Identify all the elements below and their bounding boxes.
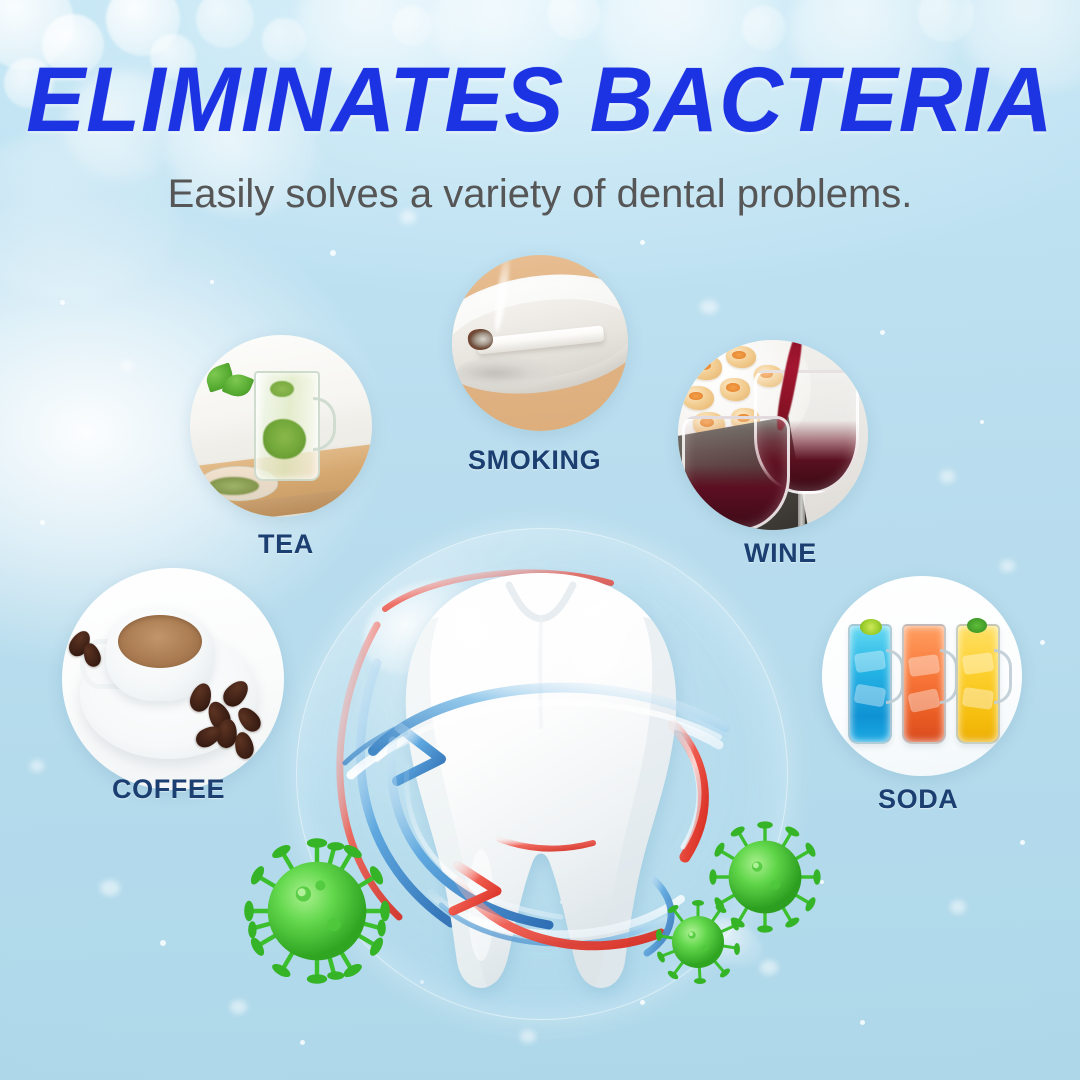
cigarette-ashtray-icon [452,255,628,431]
page-title: ELIMINATES BACTERIA [22,54,1059,146]
category-label-soda: SODA [878,784,958,815]
category-coffee[interactable]: COFFEE [62,568,292,828]
virus-small-center [648,892,748,992]
coffee-cup-icon [62,568,284,790]
category-wine[interactable]: WINE [678,340,878,575]
category-label-coffee: COFFEE [112,774,225,805]
virus-large-left [232,826,402,996]
page-subtitle: Easily solves a variety of dental proble… [0,172,1080,217]
coffee-photo [62,568,284,790]
category-label-smoking: SMOKING [468,445,601,476]
category-tea[interactable]: TEA [190,335,376,565]
category-smoking[interactable]: SMOKING [452,255,632,485]
wine-glasses-icon [678,340,868,530]
poster-canvas: ELIMINATES BACTERIA Easily solves a vari… [0,0,1080,1080]
tea-glass-icon [190,335,372,517]
soda-glasses-icon [822,576,1022,776]
tea-photo [190,335,372,517]
wine-photo [678,340,868,530]
soda-photo [822,576,1022,776]
category-label-tea: TEA [258,529,314,560]
smoking-photo [452,255,628,431]
category-label-wine: WINE [744,538,817,569]
category-soda[interactable]: SODA [822,576,1032,826]
